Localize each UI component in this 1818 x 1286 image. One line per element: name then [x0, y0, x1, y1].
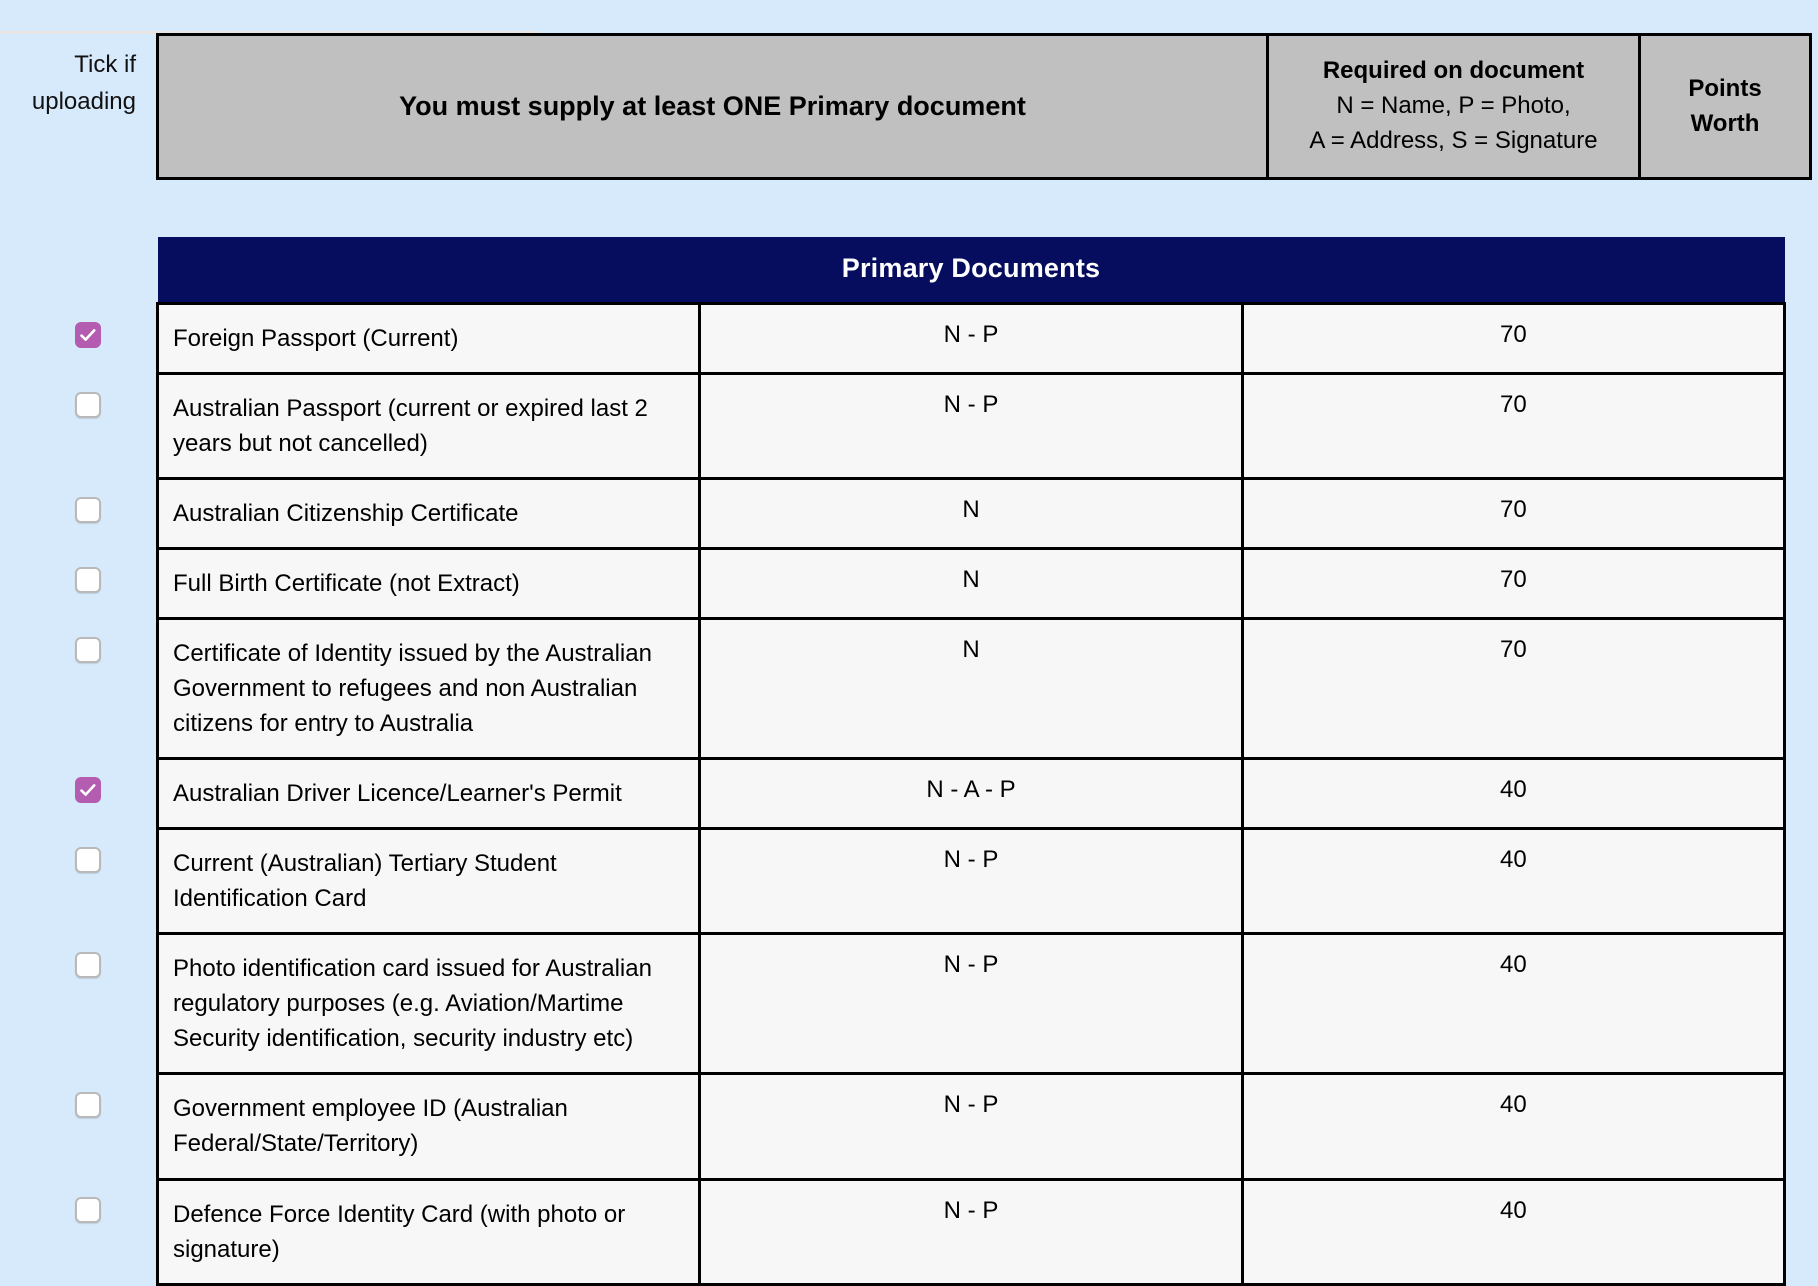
table-row: Current (Australian) Tertiary Student Id… — [158, 829, 1785, 934]
document-name-cell: Current (Australian) Tertiary Student Id… — [158, 829, 700, 934]
points-worth-cell: 70 — [1242, 374, 1784, 479]
document-name-cell: Certificate of Identity issued by the Au… — [158, 619, 700, 759]
upload-tick-checkbox-wrapper — [75, 847, 101, 873]
table-row: Full Birth Certificate (not Extract)N70 — [158, 549, 1785, 619]
points-worth-cell: 40 — [1242, 1074, 1784, 1179]
tick-caption-line-2: uploading — [0, 83, 136, 120]
primary-documents-table-head: Primary Documents — [158, 237, 1785, 304]
primary-documents-table-body: Foreign Passport (Current)N - P70Austral… — [158, 304, 1785, 1285]
points-worth-cell: 40 — [1242, 934, 1784, 1074]
required-on-document-cell: N - P — [700, 1074, 1242, 1179]
table-row: Certificate of Identity issued by the Au… — [158, 619, 1785, 759]
required-on-document-cell: N - P — [700, 829, 1242, 934]
checkmark-icon — [80, 783, 96, 798]
upload-tick-checkbox-wrapper — [75, 567, 101, 593]
upload-tick-checkbox-wrapper — [75, 1092, 101, 1118]
required-on-document-cell: N — [700, 549, 1242, 619]
document-name-cell: Foreign Passport (Current) — [158, 304, 700, 374]
document-name-cell: Australian Driver Licence/Learner's Perm… — [158, 759, 700, 829]
tick-if-uploading-caption: Tick if uploading — [0, 46, 136, 120]
document-name-cell: Australian Citizenship Certificate — [158, 479, 700, 549]
required-on-document-cell: N — [700, 619, 1242, 759]
document-name-cell: Government employee ID (Australian Feder… — [158, 1074, 700, 1179]
required-on-document-cell: N - P — [700, 374, 1242, 479]
primary-documents-banner-row: Primary Documents — [158, 237, 1785, 304]
legend-required-cell: Required on document N = Name, P = Photo… — [1268, 35, 1640, 179]
upload-tick-checkbox[interactable] — [75, 952, 101, 978]
upload-tick-checkbox[interactable] — [75, 847, 101, 873]
required-on-document-cell: N - P — [700, 1179, 1242, 1284]
points-worth-cell: 40 — [1242, 1179, 1784, 1284]
upload-tick-checkbox-wrapper — [75, 952, 101, 978]
table-row: Australian Passport (current or expired … — [158, 374, 1785, 479]
document-name-cell: Photo identification card issued for Aus… — [158, 934, 700, 1074]
primary-documents-banner-title: Primary Documents — [158, 237, 1785, 304]
table-row: Australian Citizenship CertificateN70 — [158, 479, 1785, 549]
points-worth-cell: 70 — [1242, 479, 1784, 549]
upload-tick-checkbox[interactable] — [75, 777, 101, 803]
legend-header-table: You must supply at least ONE Primary doc… — [156, 33, 1812, 180]
points-worth-cell: 70 — [1242, 619, 1784, 759]
upload-tick-checkbox-wrapper — [75, 497, 101, 523]
points-worth-cell: 70 — [1242, 304, 1784, 374]
legend-points-cell: Points Worth — [1640, 35, 1811, 179]
points-worth-cell: 40 — [1242, 829, 1784, 934]
document-page: Tick if uploading You must supply at lea… — [0, 0, 1818, 1030]
checkmark-icon — [80, 328, 96, 343]
required-on-document-cell: N — [700, 479, 1242, 549]
required-on-document-cell: N - P — [700, 304, 1242, 374]
required-on-document-cell: N - A - P — [700, 759, 1242, 829]
primary-documents-table: Primary Documents Foreign Passport (Curr… — [156, 237, 1786, 1286]
upload-tick-checkbox-wrapper — [75, 392, 101, 418]
upload-tick-checkbox[interactable] — [75, 1197, 101, 1223]
tick-caption-line-1: Tick if — [0, 46, 136, 83]
points-worth-cell: 40 — [1242, 759, 1784, 829]
table-row: Photo identification card issued for Aus… — [158, 934, 1785, 1074]
legend-required-line-1: N = Name, P = Photo, — [1336, 92, 1570, 119]
document-name-cell: Australian Passport (current or expired … — [158, 374, 700, 479]
table-row: Defence Force Identity Card (with photo … — [158, 1179, 1785, 1284]
legend-instruction-cell: You must supply at least ONE Primary doc… — [158, 35, 1268, 179]
upload-tick-checkbox[interactable] — [75, 392, 101, 418]
upload-tick-checkbox-wrapper — [75, 637, 101, 663]
legend-required-line-2: A = Address, S = Signature — [1309, 127, 1597, 154]
legend-row: You must supply at least ONE Primary doc… — [158, 35, 1811, 179]
document-name-cell: Defence Force Identity Card (with photo … — [158, 1179, 700, 1284]
upload-tick-checkbox[interactable] — [75, 637, 101, 663]
legend-required-title: Required on document — [1277, 54, 1630, 89]
points-worth-cell: 70 — [1242, 549, 1784, 619]
legend-points-line-2: Worth — [1691, 110, 1760, 137]
upload-tick-checkbox[interactable] — [75, 567, 101, 593]
document-name-cell: Full Birth Certificate (not Extract) — [158, 549, 700, 619]
upload-tick-checkbox-wrapper — [75, 322, 101, 348]
upload-tick-checkbox-wrapper — [75, 1197, 101, 1223]
upload-tick-checkbox[interactable] — [75, 322, 101, 348]
legend-points-line-1: Points — [1688, 75, 1761, 102]
upload-tick-checkbox[interactable] — [75, 1092, 101, 1118]
table-row: Government employee ID (Australian Feder… — [158, 1074, 1785, 1179]
required-on-document-cell: N - P — [700, 934, 1242, 1074]
upload-tick-checkbox[interactable] — [75, 497, 101, 523]
table-row: Foreign Passport (Current)N - P70 — [158, 304, 1785, 374]
upload-tick-checkbox-wrapper — [75, 777, 101, 803]
table-row: Australian Driver Licence/Learner's Perm… — [158, 759, 1785, 829]
